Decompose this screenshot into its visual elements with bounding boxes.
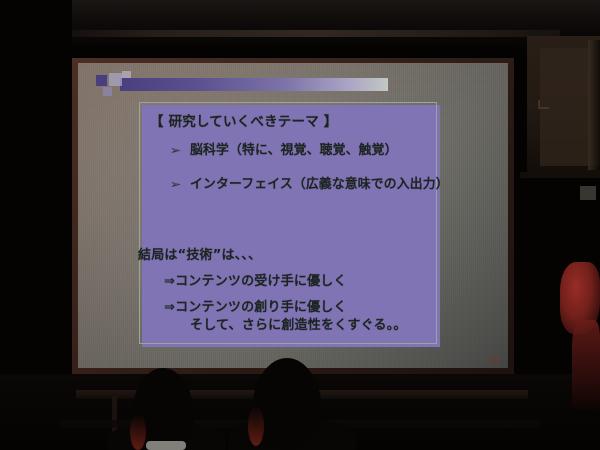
slide-text-layer: 【 研究していくべきテーマ 】 ➢ 脳科学（特に、視覚、聴覚、触覚） ➢ インタ… xyxy=(78,63,508,368)
closing-lead-text: 結局は“技術”は、、、 xyxy=(138,249,261,263)
list-item: ➢ インターフェイス（広義な意味での入出力） xyxy=(172,173,442,192)
audience-rim-light-left xyxy=(130,414,146,450)
slide-page-number: 15 xyxy=(486,356,500,366)
red-foreground-object-lower xyxy=(572,320,600,410)
audience-collar-left xyxy=(146,441,186,450)
wall-right-marking xyxy=(538,100,549,109)
bullet-label-interface: インターフェイス（広義な意味での入出力） xyxy=(190,173,449,192)
wall-above-screen xyxy=(0,0,600,46)
list-item: ➢ 脳科学（特に、視覚、聴覚、触覚） xyxy=(172,139,442,158)
arrow-bullet-icon: ➢ xyxy=(170,144,193,157)
projection-screen-frame: 【 研究していくべきテーマ 】 ➢ 脳科学（特に、視覚、聴覚、触覚） ➢ インタ… xyxy=(72,58,514,375)
projected-slide: 【 研究していくべきテーマ 】 ➢ 脳科学（特に、視覚、聴覚、触覚） ➢ インタ… xyxy=(78,63,508,368)
wall-fixture xyxy=(580,186,596,200)
audience-rim-light-right xyxy=(248,406,264,446)
ceiling-band xyxy=(20,30,560,37)
slide-bullet-list: ➢ 脳科学（特に、視覚、聴覚、触覚） ➢ インターフェイス（広義な意味での入出力… xyxy=(172,139,442,207)
lecture-room-scene: 【 研究していくべきテーマ 】 ➢ 脳科学（特に、視覚、聴覚、触覚） ➢ インタ… xyxy=(0,0,600,450)
wall-right-edge xyxy=(588,40,600,170)
arrow-bullet-icon: ➢ xyxy=(170,178,193,191)
closing-arrow-line-2-cont: そして、さらに創造性をくすぐる。。 xyxy=(190,319,407,333)
closing-arrow-line-1: ⇒コンテンツの受け手に優しく xyxy=(164,275,347,289)
bullet-label-brain-science: 脳科学（特に、視覚、聴覚、触覚） xyxy=(190,139,398,158)
slide-heading: 【 研究していくべきテーマ 】 xyxy=(150,110,338,130)
closing-arrow-line-2: ⇒コンテンツの創り手に優しく xyxy=(164,301,347,315)
